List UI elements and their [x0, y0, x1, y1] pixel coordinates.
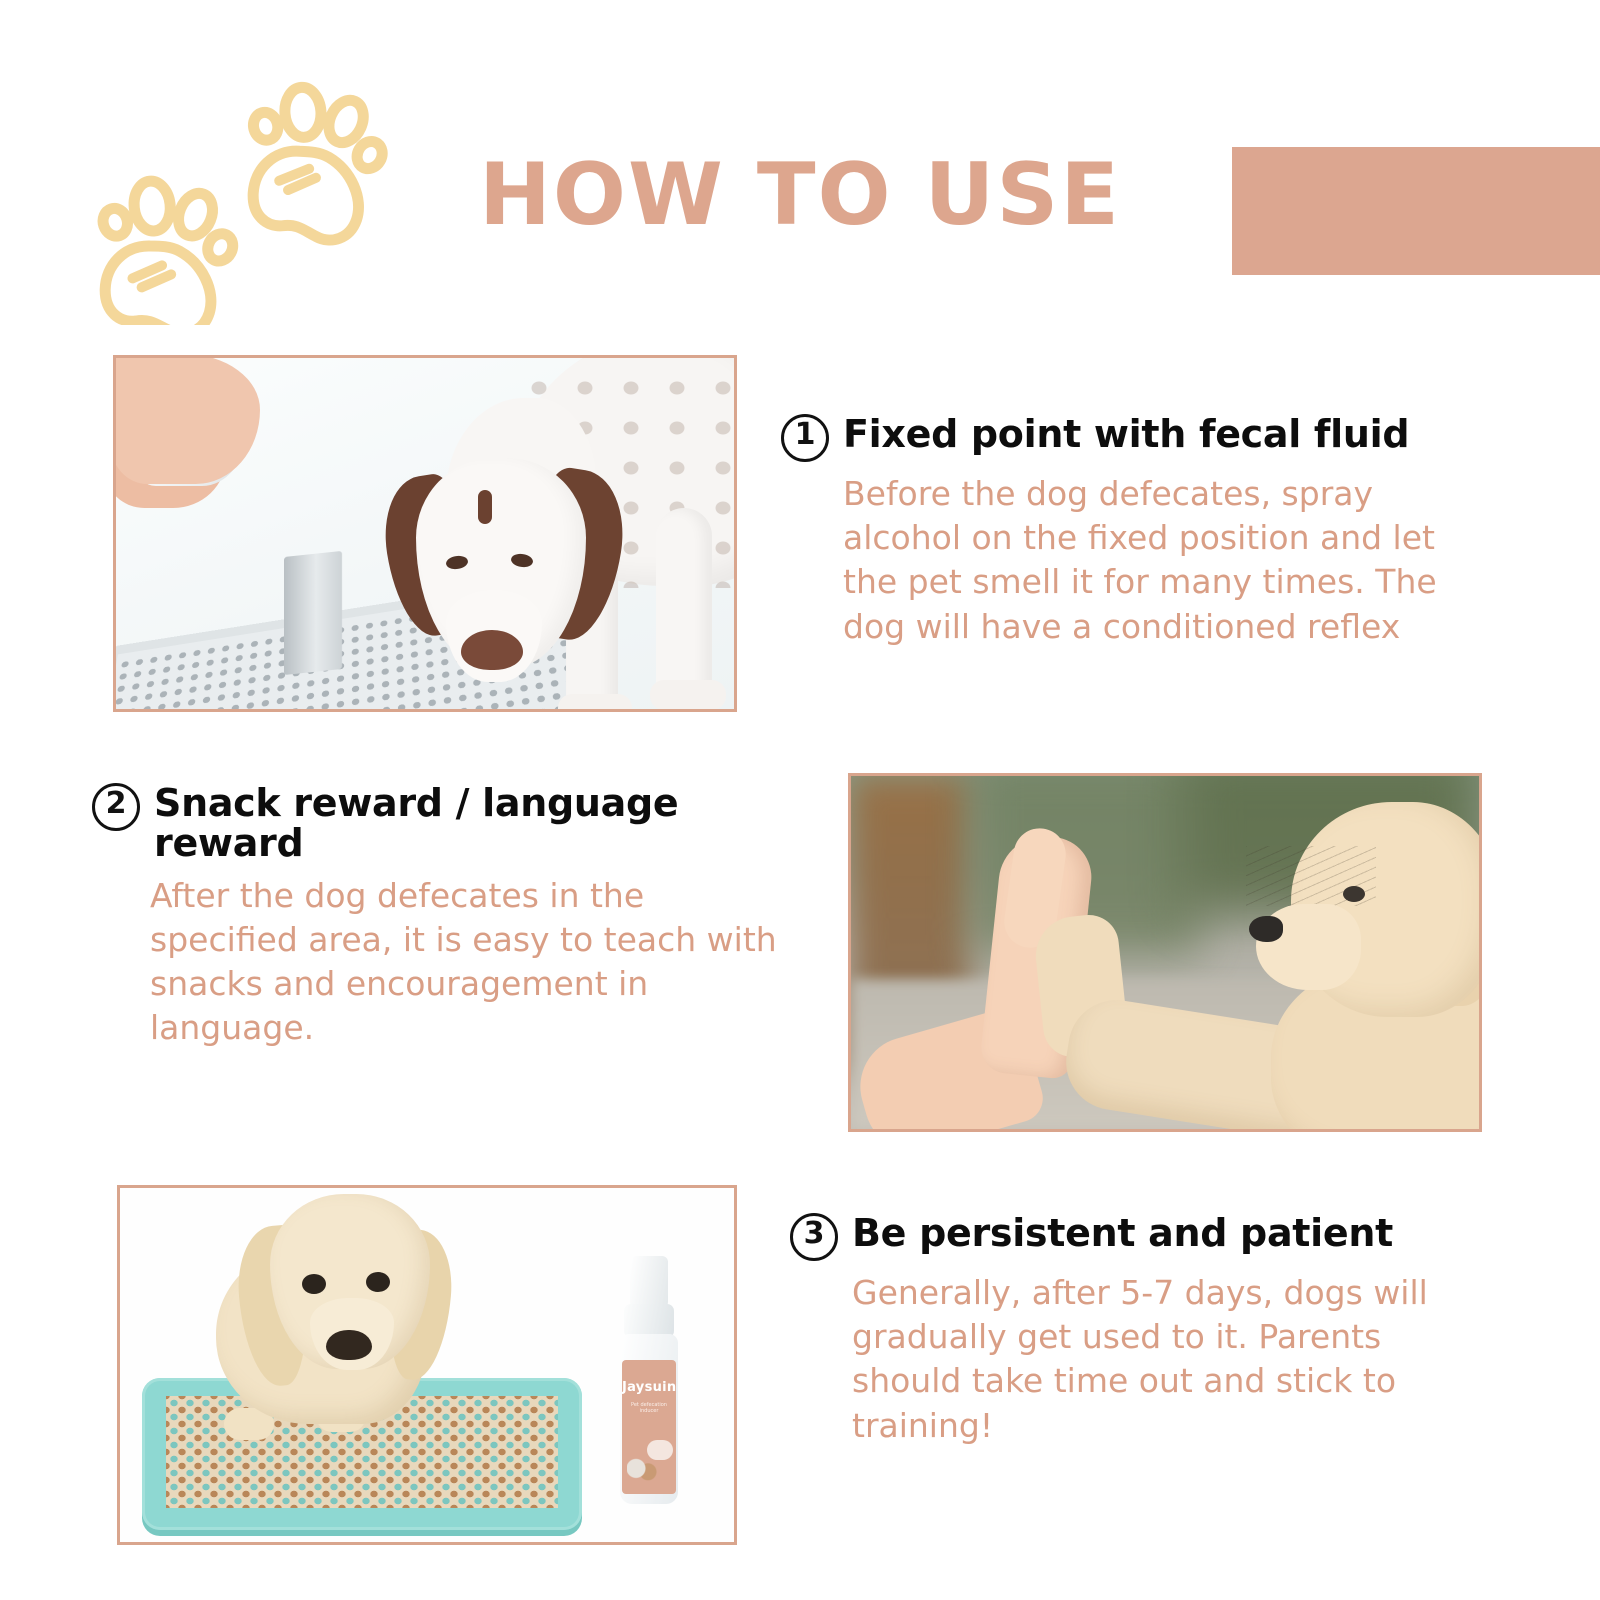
step-1-title: Fixed point with fecal fluid — [843, 414, 1409, 454]
step-2-block: 2 Snack reward / language reward After t… — [92, 783, 792, 1050]
step-3-body: Generally, after 5-7 days, dogs will gra… — [852, 1271, 1490, 1448]
product-tagline-label: Pet defecation inducer — [622, 1402, 676, 1414]
step-2-number: 2 — [92, 783, 140, 831]
step-1-block: 1 Fixed point with fecal fluid Before th… — [781, 414, 1481, 649]
step-3-photo: Jaysuing Pet defecation inducer — [117, 1185, 737, 1545]
page-title: HOW TO USE — [420, 152, 1180, 238]
step-2-photo — [848, 773, 1482, 1132]
step-3-photo-art: Jaysuing Pet defecation inducer — [120, 1188, 734, 1542]
step-2-photo-art — [851, 776, 1479, 1129]
step-1-photo-art — [116, 358, 734, 709]
step-2-title: Snack reward / language reward — [154, 783, 792, 864]
step-2-body: After the dog defecates in the specified… — [150, 874, 792, 1051]
step-1-body: Before the dog defecates, spray alcohol … — [843, 472, 1481, 649]
step-3-heading: 3 Be persistent and patient — [790, 1213, 1490, 1261]
step-1-number: 1 — [781, 414, 829, 462]
step-1-heading: 1 Fixed point with fecal fluid — [781, 414, 1481, 462]
step-3-block: 3 Be persistent and patient Generally, a… — [790, 1213, 1490, 1448]
step-1-photo — [113, 355, 737, 712]
step-3-number: 3 — [790, 1213, 838, 1261]
product-brand-label: Jaysuing — [622, 1380, 676, 1395]
step-2-heading: 2 Snack reward / language reward — [92, 783, 792, 864]
product-spray-bottle: Jaysuing Pet defecation inducer — [618, 1256, 680, 1506]
header-accent-block — [1232, 147, 1600, 275]
paw-prints-decoration — [88, 55, 418, 325]
step-3-title: Be persistent and patient — [852, 1213, 1393, 1253]
